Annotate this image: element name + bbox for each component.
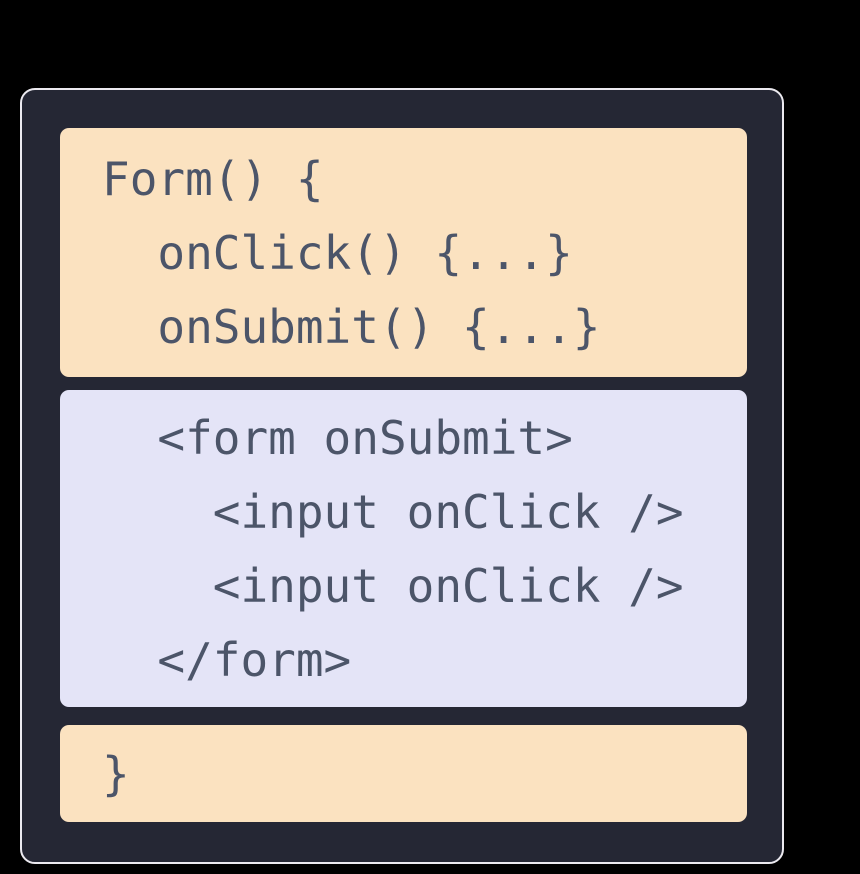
code-line: <form onSubmit>: [60, 401, 747, 475]
code-line: Form() {: [60, 142, 747, 216]
code-block-component-close: }: [60, 725, 747, 822]
code-line: }: [60, 737, 747, 811]
code-line: onSubmit() {...}: [60, 290, 747, 364]
code-line: <input onClick />: [60, 475, 747, 549]
code-line: <input onClick />: [60, 549, 747, 623]
code-line: onClick() {...}: [60, 216, 747, 290]
code-block-component-signature: Form() { onClick() {...} onSubmit() {...…: [60, 128, 747, 377]
code-block-jsx-markup: <form onSubmit> <input onClick /> <input…: [60, 390, 747, 707]
screenshot-stage: Form() { onClick() {...} onSubmit() {...…: [0, 0, 860, 874]
code-line: </form>: [60, 623, 747, 697]
code-card: Form() { onClick() {...} onSubmit() {...…: [20, 88, 784, 864]
